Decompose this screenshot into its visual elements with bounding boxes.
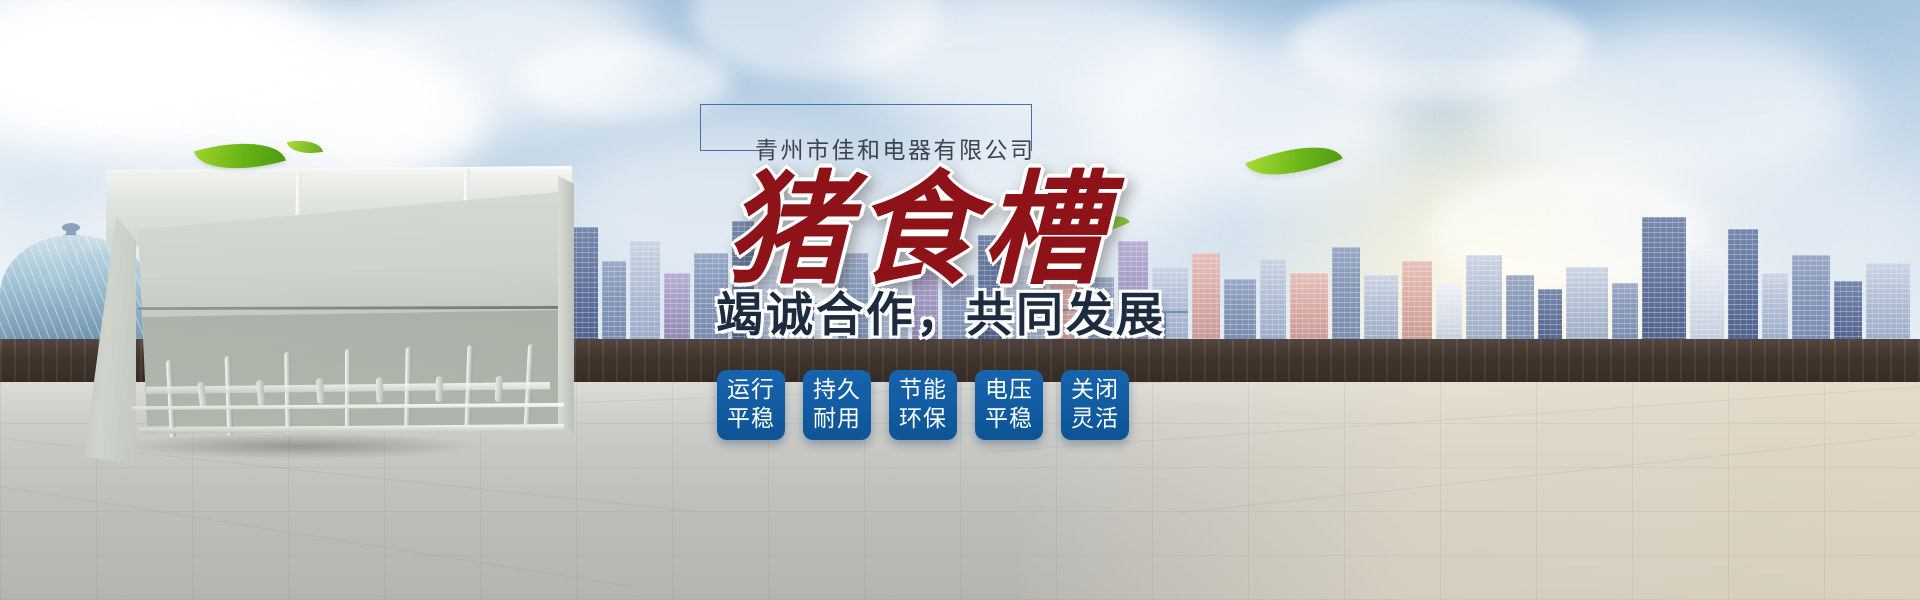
- trough-right-edge: [558, 176, 574, 434]
- feature-badge[interactable]: 关闭 灵活: [1061, 370, 1129, 440]
- badge-line-1: 电压: [985, 377, 1033, 404]
- badge-line-1: 节能: [899, 377, 947, 404]
- badge-line-2: 灵活: [1071, 406, 1119, 433]
- drinking-nipple: [376, 377, 383, 403]
- drinking-nipple: [316, 378, 324, 404]
- badge-line-2: 平稳: [985, 406, 1033, 433]
- banner-text-block: 青州市佳和电器有限公司 猪食槽 竭诚合作，共同发展: [700, 104, 1460, 504]
- product-image-pig-feeding-trough: [60, 160, 580, 490]
- badge-line-2: 耐用: [813, 406, 861, 433]
- badge-line-1: 持久: [813, 377, 861, 404]
- feature-badge-list: 运行 平稳 持久 耐用 节能 环保 电压 平稳 关闭 灵活: [717, 370, 1129, 440]
- badge-line-1: 运行: [727, 377, 775, 404]
- banner-subheadline: 竭诚合作，共同发展: [716, 292, 1166, 339]
- promo-banner: 青州市佳和电器有限公司 猪食槽 竭诚合作，共同发展 运行 平稳 持久 耐用 节能…: [0, 0, 1920, 600]
- drinking-nipple: [495, 376, 503, 402]
- feature-badge[interactable]: 运行 平稳: [717, 370, 785, 440]
- badge-line-2: 平稳: [727, 406, 775, 433]
- trough-left-panel: [84, 216, 136, 466]
- feature-badge[interactable]: 电压 平稳: [975, 370, 1043, 440]
- badge-line-1: 关闭: [1071, 377, 1119, 404]
- banner-headline: 猪食槽: [726, 168, 1110, 290]
- feature-badge[interactable]: 节能 环保: [889, 370, 957, 440]
- badge-line-2: 环保: [899, 406, 947, 433]
- drinking-nipple: [436, 376, 443, 402]
- feature-badge[interactable]: 持久 耐用: [803, 370, 871, 440]
